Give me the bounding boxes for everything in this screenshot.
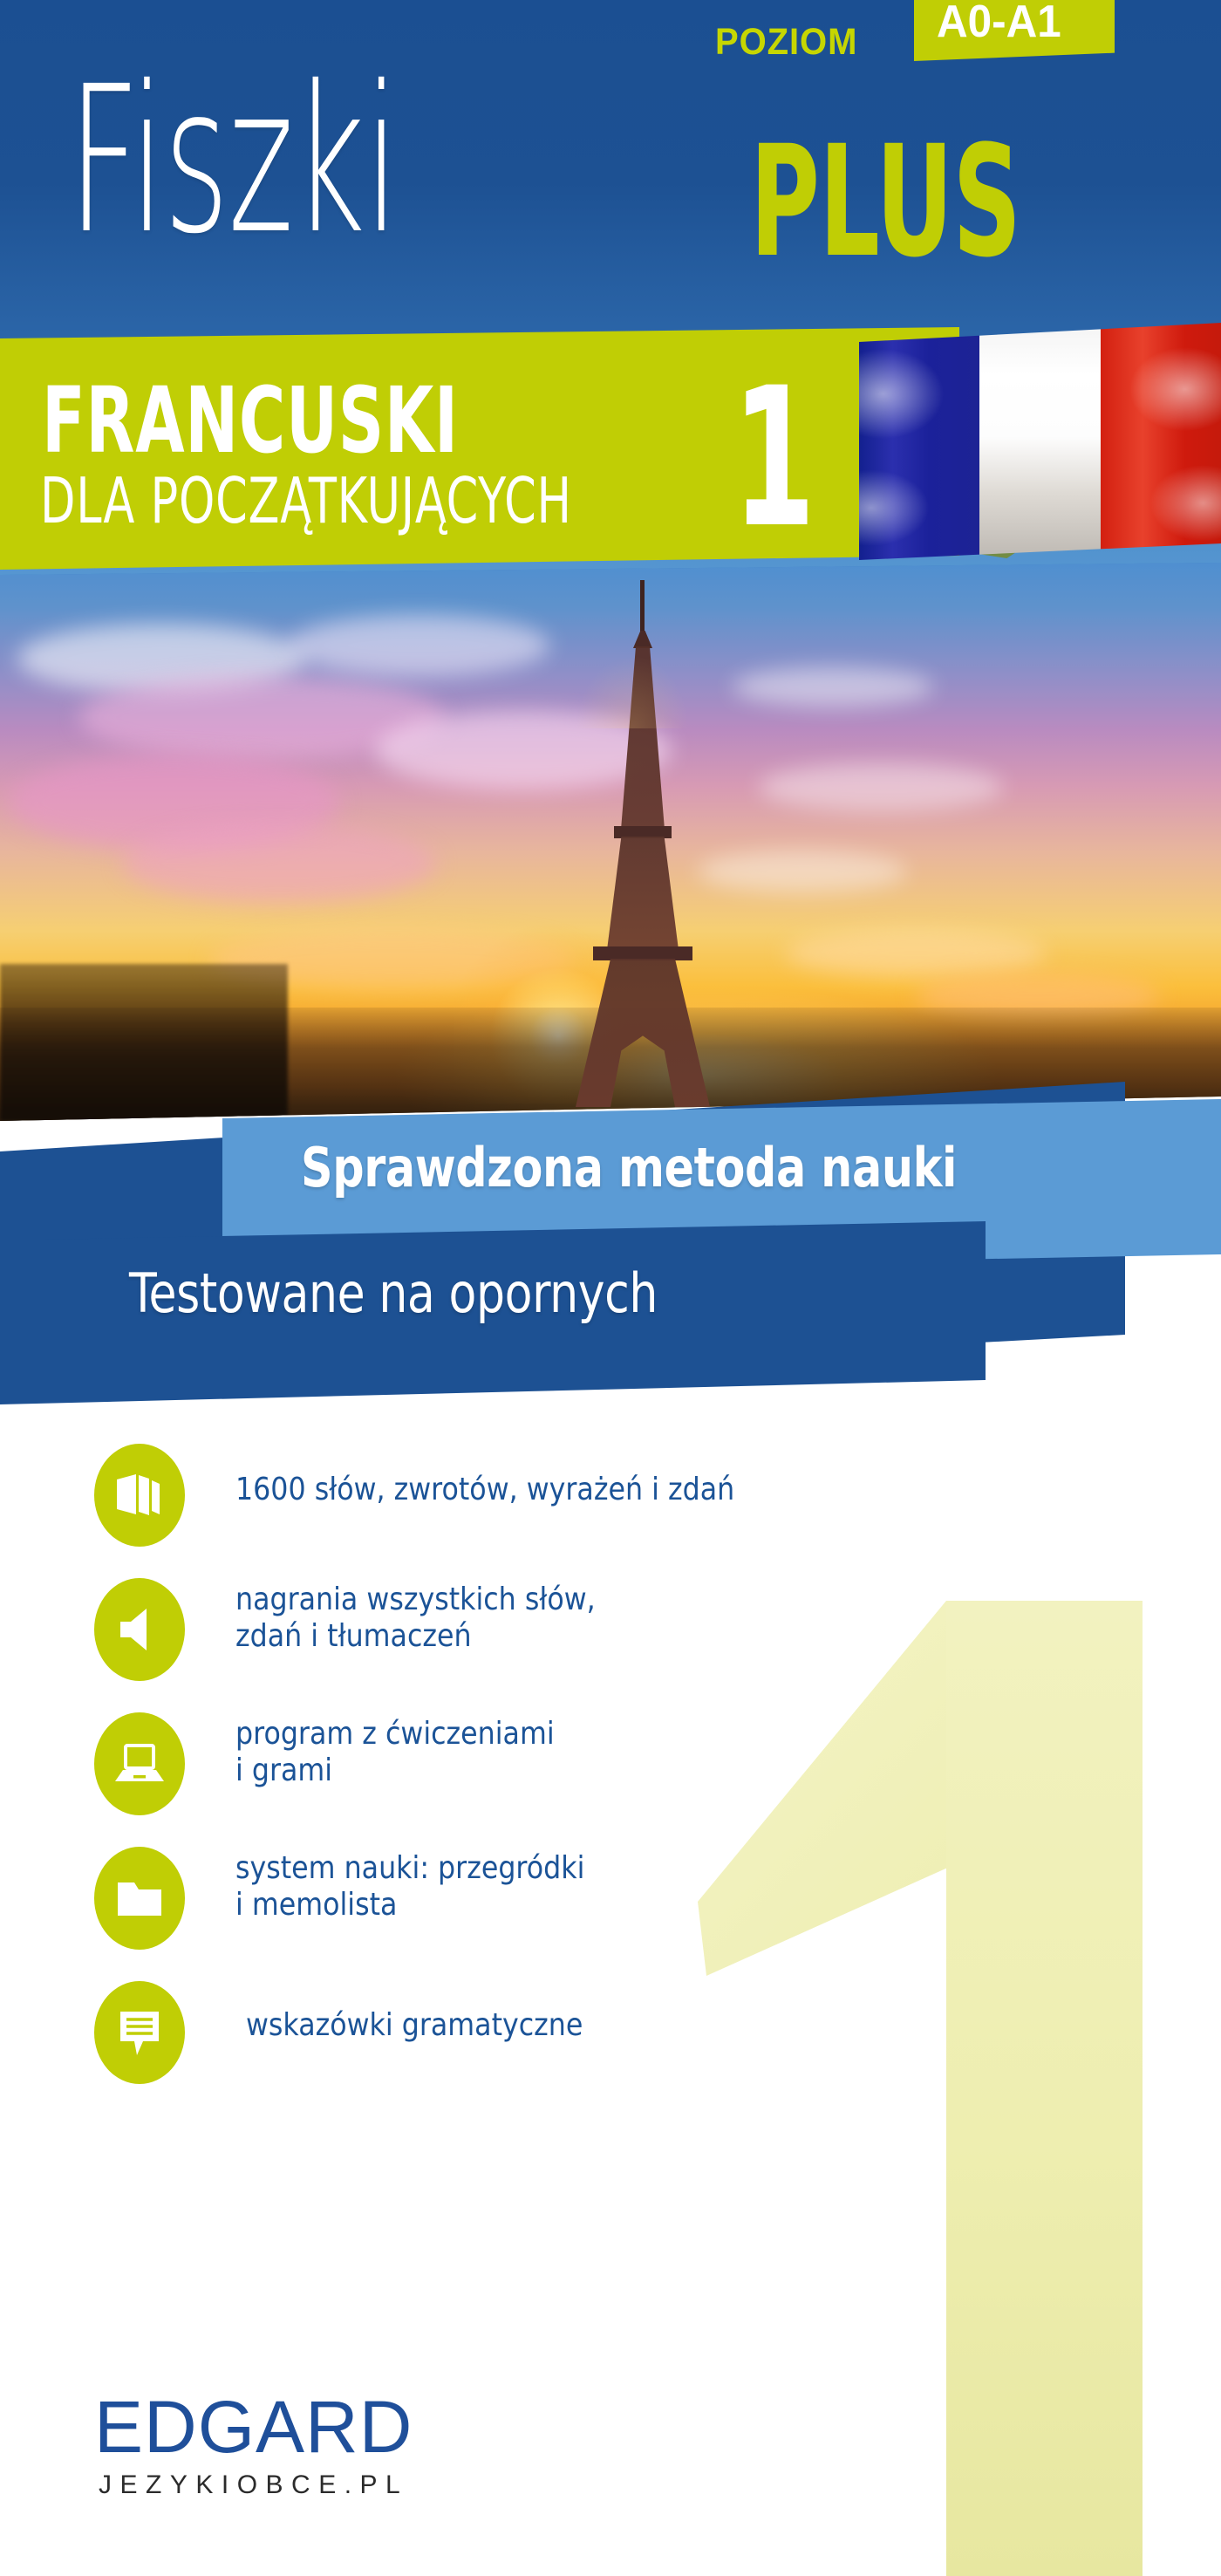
feature-item: program z ćwiczeniami i grami (0, 1712, 1221, 1815)
book-cover: POZIOM A0-A1 Fiszki PLUS FRANCUSKI DLA P… (0, 0, 1221, 2576)
cloud (759, 763, 1003, 811)
cloud (288, 615, 549, 676)
logo-domain: JEZYKIOBCE.PL (99, 2472, 413, 2498)
volume-number: 1 (733, 362, 815, 554)
flashcards-icon (94, 1444, 185, 1547)
flag-stripe-red (1101, 323, 1221, 560)
tower-legs (576, 959, 710, 1107)
level-label: POZIOM (715, 21, 857, 64)
banner-sprawdzona-text: Sprawdzona metoda nauki (301, 1141, 957, 1195)
speech-bubble-icon (94, 1981, 185, 2084)
tower-arch-glow (565, 580, 699, 728)
level-badge-text: A0-A1 (937, 0, 1061, 44)
banner-testowane: Testowane na opornych (0, 1221, 986, 1404)
language-name: FRANCUSKI (42, 375, 459, 466)
cloud (785, 929, 1047, 977)
flag-stripe-white (979, 323, 1100, 560)
flag-stripe-blue (859, 323, 979, 560)
french-flag-icon (859, 323, 1221, 560)
cloud (122, 824, 436, 903)
brand-title: Fiszki PLUS (0, 68, 1221, 295)
speaker-icon (94, 1578, 185, 1681)
tower-midsection (607, 837, 679, 950)
tree-silhouettes (0, 964, 288, 1121)
feature-item: nagrania wszystkich słów, zdań i tłumacz… (0, 1578, 1221, 1681)
language-subtitle: DLA POCZĄTKUJĄCYCH (40, 469, 572, 532)
level-badge: A0-A1 (914, 0, 1115, 61)
feature-item: wskazówki gramatyczne (0, 1981, 1221, 2084)
logo-name: EDGARD (94, 2390, 413, 2463)
laptop-icon (94, 1712, 185, 1815)
eiffel-tower-photo (0, 563, 1221, 1121)
eiffel-tower-silhouette (565, 580, 722, 1104)
cloud (733, 667, 933, 707)
tower-platform-2 (614, 826, 672, 838)
feature-item: 1600 słów, zwrotów, wyrażeń i zdań (0, 1444, 1221, 1547)
cloud (698, 851, 907, 892)
folder-icon (94, 1847, 185, 1950)
feature-label: 1600 słów, zwrotów, wyrażeń i zdań (235, 1472, 734, 1508)
feature-label: nagrania wszystkich słów, zdań i tłumacz… (235, 1582, 596, 1656)
brand-title-plus: PLUS (750, 126, 1020, 279)
brand-title-main: Fiszki (68, 59, 399, 262)
feature-label: system nauki: przegródki i memolista (235, 1850, 584, 1924)
feature-item: system nauki: przegródki i memolista (0, 1847, 1221, 1950)
tower-platform-1 (593, 946, 692, 960)
publisher-logo: EDGARD JEZYKIOBCE.PL (94, 2390, 413, 2498)
feature-list: 1600 słów, zwrotów, wyrażeń i zdań nagra… (0, 1444, 1221, 2084)
banner-testowane-text: Testowane na opornych (129, 1267, 658, 1321)
feature-label: wskazówki gramatyczne (246, 2007, 583, 2044)
feature-label: program z ćwiczeniami i grami (235, 1716, 555, 1790)
